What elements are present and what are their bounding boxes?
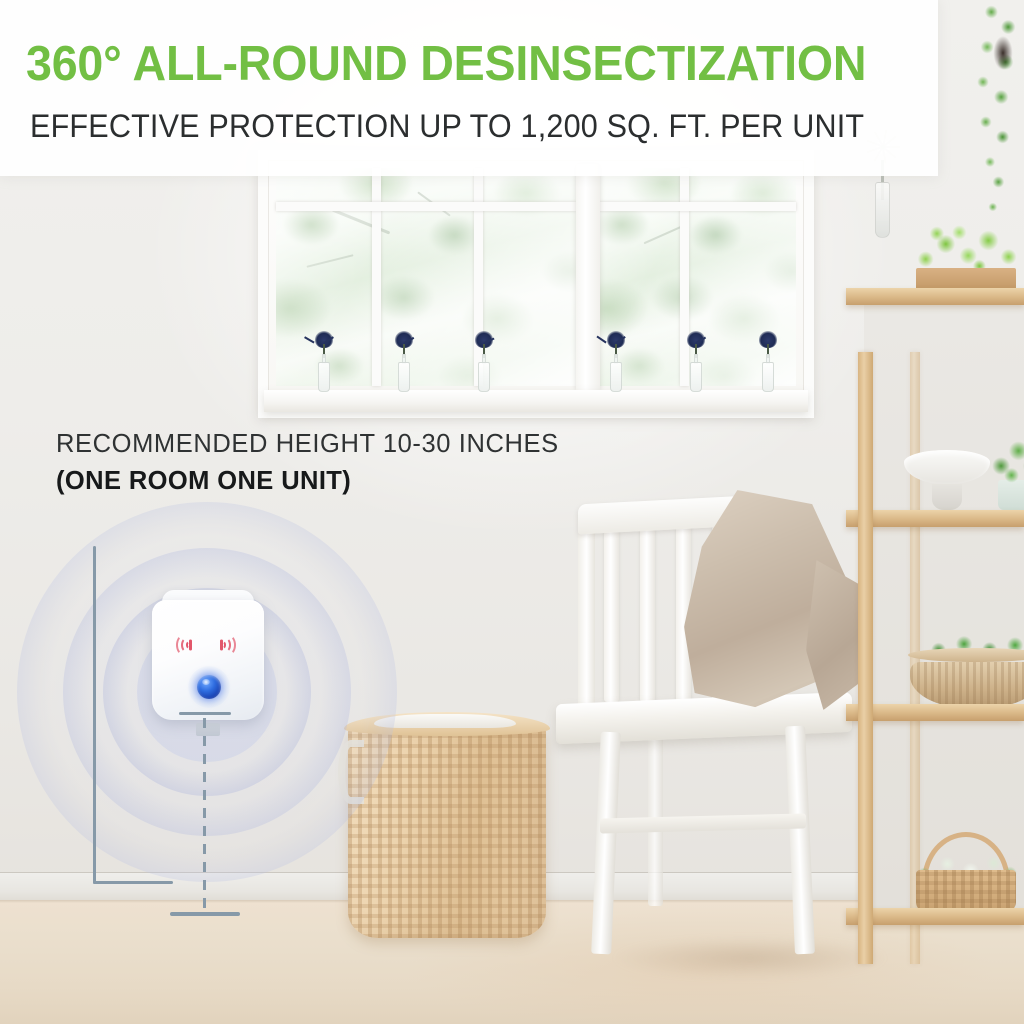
- thistle-bottle: [760, 346, 776, 392]
- window-mullion: [598, 202, 796, 211]
- chair-leg: [591, 732, 621, 955]
- height-measure-line: [93, 546, 96, 884]
- chair-leg: [648, 726, 663, 906]
- chair-stretcher: [600, 813, 806, 833]
- product-lifestyle-image: RECOMMENDED HEIGHT 10-30 INCHES (ONE ROO…: [0, 0, 1024, 1024]
- chair-spindle: [640, 526, 655, 702]
- callout-line-2: (ONE ROOM ONE UNIT): [56, 467, 616, 496]
- thistle-bottle: [316, 346, 332, 392]
- window: [258, 150, 814, 418]
- thistle-bottle: [688, 346, 704, 392]
- banner-subline: EFFECTIVE PROTECTION UP TO 1,200 SQ. FT.…: [30, 108, 864, 145]
- chair-stile: [578, 518, 595, 714]
- shelf-post: [858, 352, 873, 964]
- height-measure-foot: [93, 881, 173, 884]
- window-mullion: [276, 202, 576, 211]
- throw-fold: [806, 560, 864, 710]
- ultrasonic-wave-icon: [218, 632, 240, 658]
- herb-planter: [910, 220, 1022, 294]
- ceramic-bowl: [904, 440, 990, 510]
- ultrasonic-pest-repeller-device: [152, 588, 264, 724]
- banner-headline: 360° ALL-ROUND DESINSECTIZATION: [26, 36, 866, 92]
- oval-basket-with-greens: [910, 644, 1024, 708]
- dashed-line-floor-tick: [170, 912, 240, 916]
- window-mullion: [372, 168, 381, 386]
- potted-plant: [986, 428, 1024, 510]
- hanging-ivy-plant: [962, 0, 1024, 242]
- recommended-height-callout: RECOMMENDED HEIGHT 10-30 INCHES (ONE ROO…: [56, 430, 616, 496]
- dashed-line-top-tick: [179, 712, 231, 715]
- header-banner: 360° ALL-ROUND DESINSECTIZATION EFFECTIV…: [0, 0, 938, 176]
- window-center-stile: [576, 164, 600, 390]
- slim-vase: [875, 182, 890, 238]
- shelf-board: [846, 288, 1024, 305]
- led-highlight: [202, 679, 210, 685]
- wooden-shelf-unit: [846, 352, 1024, 964]
- handled-basket-with-flowers: [908, 832, 1024, 912]
- window-sill: [264, 390, 808, 412]
- thistle-bottle: [476, 346, 492, 392]
- window-frame: [258, 150, 814, 418]
- thistle-bottle: [396, 346, 412, 392]
- wooden-chair: [556, 500, 856, 960]
- dashed-drop-line: [203, 718, 206, 916]
- ultrasonic-wave-icon: [172, 632, 194, 658]
- thistle-bottle: [608, 346, 624, 392]
- callout-line-1: RECOMMENDED HEIGHT 10-30 INCHES: [56, 430, 616, 459]
- chair-leg: [785, 726, 815, 955]
- chair-spindle: [604, 526, 619, 702]
- shelf-back-wall: [864, 304, 1024, 908]
- plug-prong: [196, 723, 220, 736]
- blue-led-indicator: [197, 675, 221, 699]
